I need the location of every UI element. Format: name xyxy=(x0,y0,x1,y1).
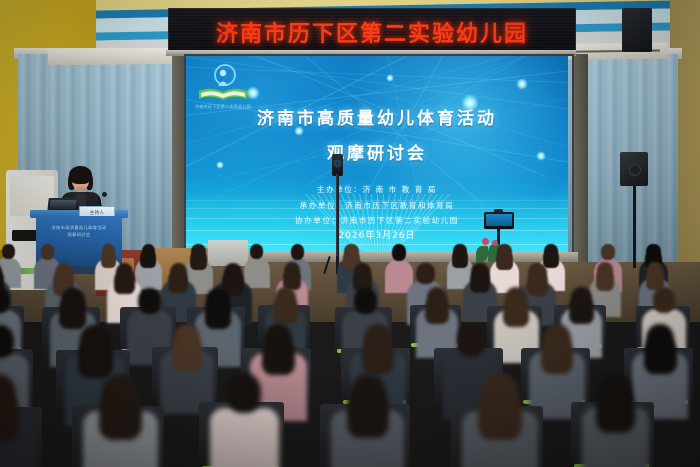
screen-title-line-2: 观摩研讨会 xyxy=(186,139,568,164)
audience-person-head xyxy=(653,287,675,312)
led-banner: 济南市历下区第二实验幼儿园 xyxy=(168,8,576,56)
camera-icon xyxy=(332,154,343,176)
speaker-driver-icon xyxy=(629,164,641,176)
microphone-icon xyxy=(102,192,107,197)
audience-person-hair xyxy=(496,251,513,270)
ceiling-speaker-right xyxy=(622,8,652,52)
screen-title-block: 济南市高质量幼儿体育活动 观摩研讨会 xyxy=(186,104,568,164)
foreground-shade xyxy=(0,357,700,467)
monitor-icon xyxy=(484,212,514,229)
audience-person-head xyxy=(291,244,305,260)
audience-person-hair xyxy=(470,271,490,294)
podium-front-line-2: 观摩研讨会 xyxy=(36,231,122,238)
audience-person-head xyxy=(250,244,263,259)
audience-person-head xyxy=(457,324,485,356)
wall-speaker-right xyxy=(620,152,648,186)
audience-person-head xyxy=(41,244,54,259)
audience-person-head xyxy=(601,244,615,260)
screen-title-line-1: 济南市高质量幼儿体育活动 xyxy=(186,104,568,129)
audience-person-hair xyxy=(503,298,529,327)
logo-child-icon xyxy=(216,68,230,86)
audience-person-head xyxy=(392,244,406,261)
podium-front-line-1: 济南市高质量幼儿体育活动 xyxy=(36,224,122,231)
audience-person-head xyxy=(416,263,434,284)
audience xyxy=(0,238,700,467)
podium-front-text: 济南市高质量幼儿体育活动 观摩研讨会 xyxy=(36,224,122,238)
conference-photo: 济南市历下区第二实验幼儿园 济南市历下区第二实验幼儿园 济南市高质量幼儿体育活动… xyxy=(0,0,700,467)
audience-person-head xyxy=(354,288,377,315)
logo-book-icon xyxy=(198,86,248,104)
speaker-hair xyxy=(69,166,92,184)
led-banner-text: 济南市历下区第二实验幼儿园 xyxy=(216,16,528,48)
audience-person-head xyxy=(138,288,161,314)
audience-person-head xyxy=(2,244,15,259)
organizer-line-1: 主办单位：济 南 市 教 育 局 xyxy=(186,184,568,195)
camera-lens-icon xyxy=(335,161,340,166)
organizer-line-2: 承办单位：济南市历下区教育和体育局 xyxy=(186,200,568,211)
